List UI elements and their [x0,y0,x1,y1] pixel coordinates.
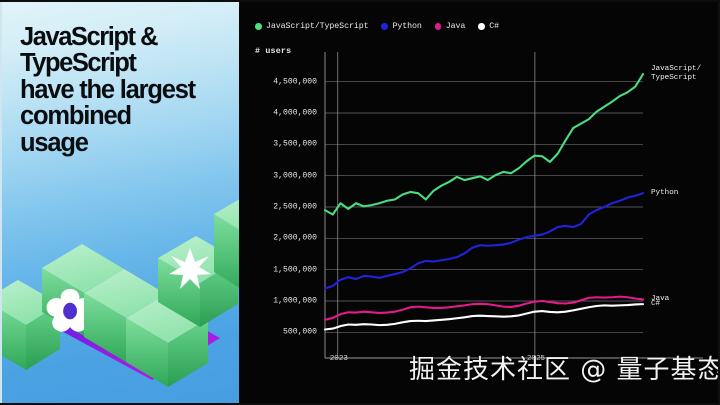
series-end-label-3: C# [651,300,660,309]
border-left [0,0,2,405]
chart-panel: JavaScript/TypeScriptPythonJavaC# # user… [239,0,720,405]
series-lines [325,74,643,329]
line-chart-plot [239,0,720,405]
series-end-label-1: Python [651,189,678,198]
screenshot-root: JavaScript & TypeScript have the largest… [0,0,720,405]
headline-line-1: JavaScript & [20,24,230,50]
page-title: JavaScript & TypeScript have the largest… [20,24,230,156]
watermark: 掘金技术社区 @ 量子基态 [409,349,720,386]
series-line-3[interactable] [325,304,643,329]
headline-line-3: have the largest [20,77,230,103]
series-line-1[interactable] [325,193,643,288]
headline-line-2: TypeScript [20,50,230,76]
left-hero-panel: JavaScript & TypeScript have the largest… [0,0,239,405]
border-top [0,0,720,2]
series-end-label-0: JavaScript/ TypeScript [651,65,701,82]
headline-line-5: usage [20,130,230,156]
headline-line-4: combined [20,103,230,129]
isometric-blocks-illustration [0,196,239,405]
x-tick-label: 2023 [330,355,348,363]
